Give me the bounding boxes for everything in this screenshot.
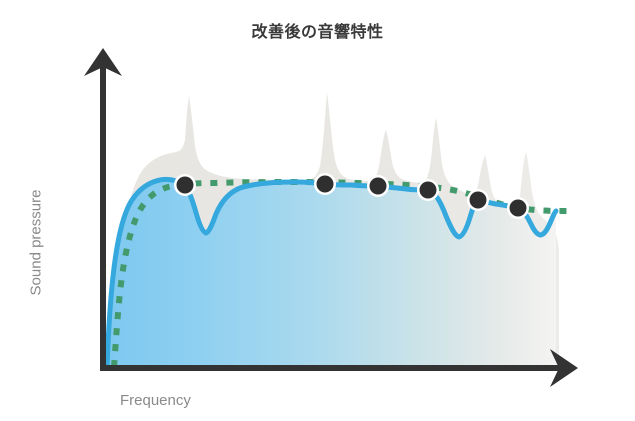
marker-point[interactable] [177, 177, 194, 194]
corrected-response-area [107, 179, 556, 368]
marker-point[interactable] [420, 182, 437, 199]
chart-plot-area [0, 0, 635, 421]
marker-point[interactable] [317, 176, 334, 193]
marker-point[interactable] [510, 200, 527, 217]
marker-point[interactable] [470, 192, 487, 209]
acoustic-characteristics-chart: 改善後の音響特性 Sound pressure Frequency [0, 0, 635, 421]
marker-point[interactable] [370, 178, 387, 195]
